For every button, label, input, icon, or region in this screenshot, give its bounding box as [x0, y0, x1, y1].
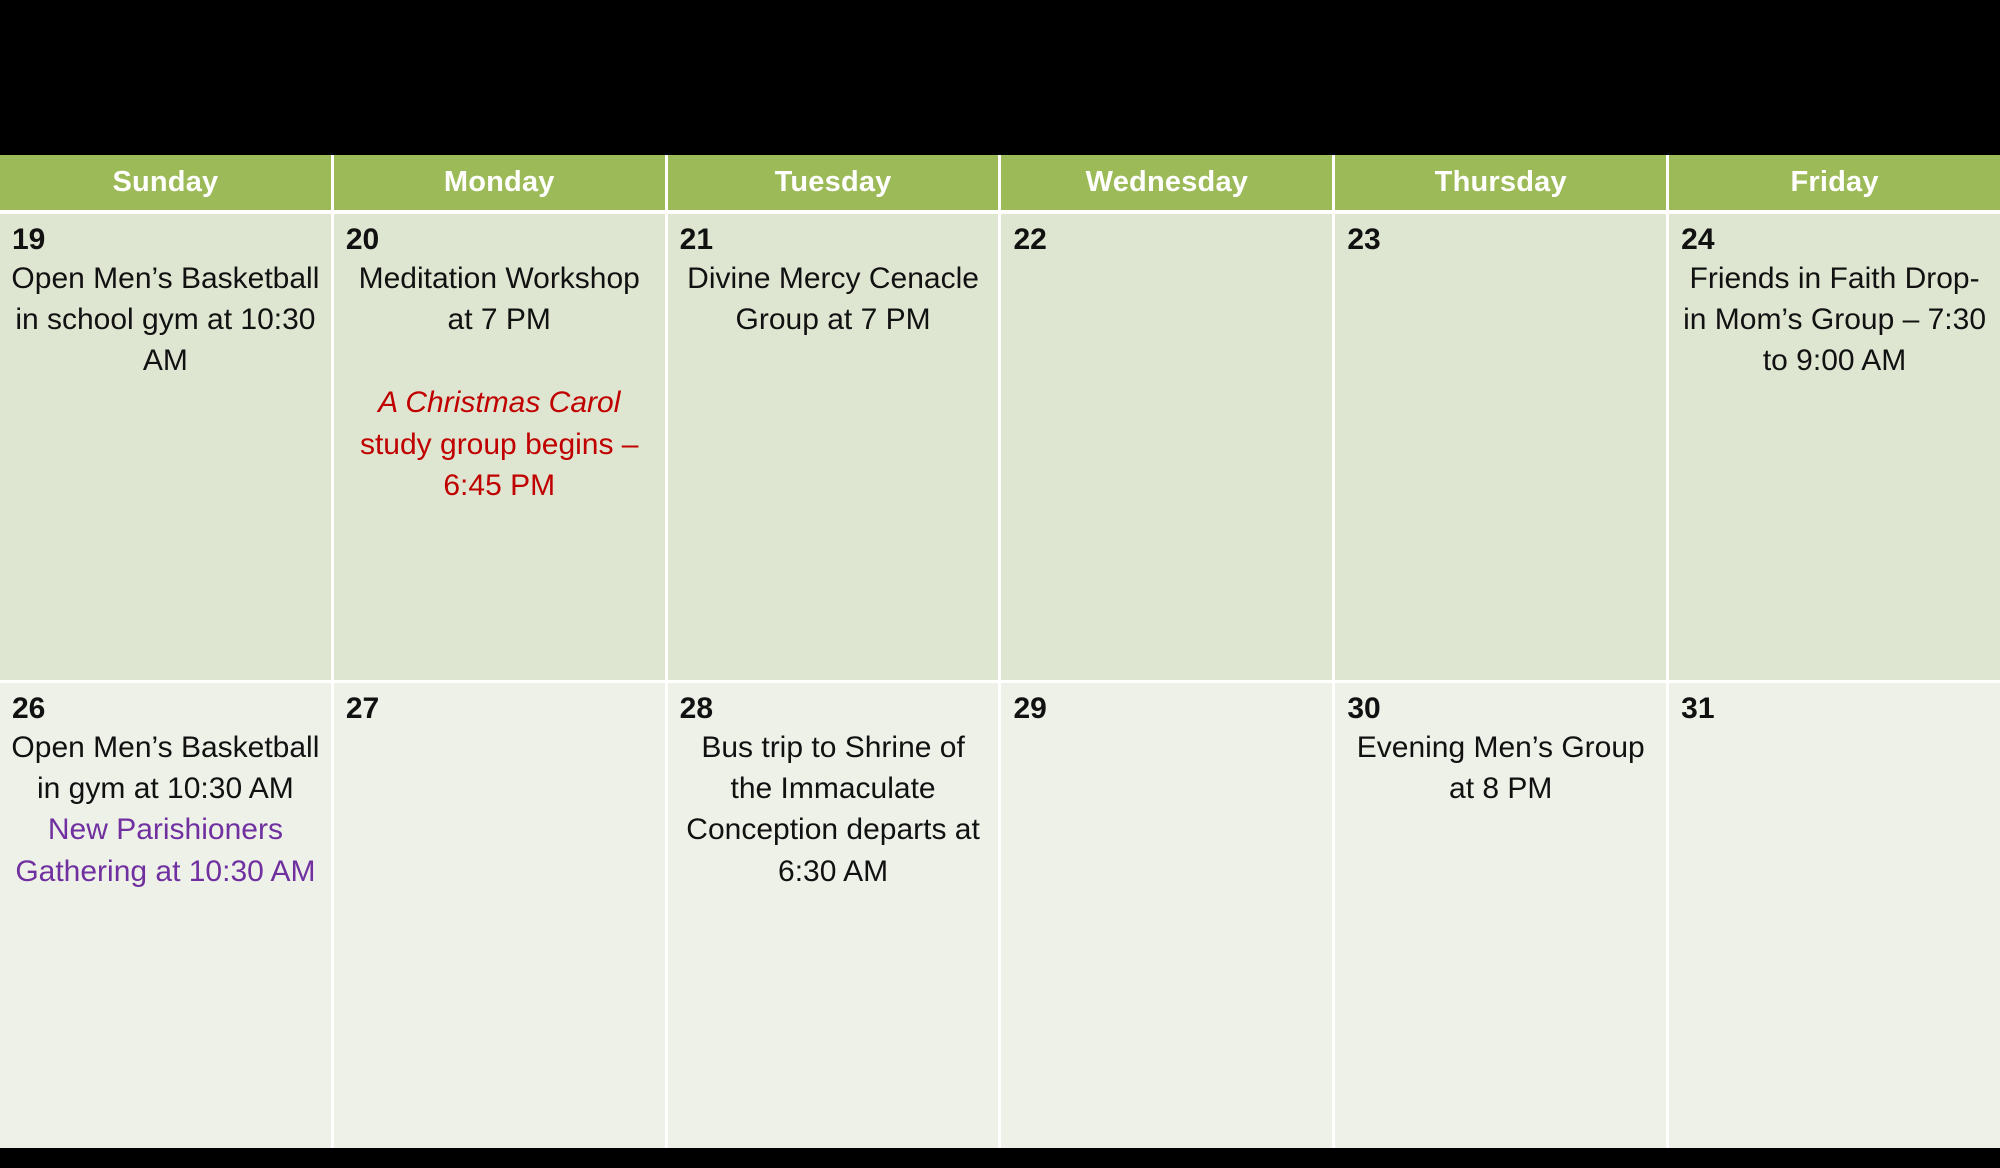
day-cell-30[interactable]: 30 Evening Men’s Group at 8 PM	[1335, 683, 1669, 1151]
column-header-thursday: Thursday	[1335, 155, 1669, 210]
day-events-26: Open Men’s Basketball in gym at 10:30 AM…	[8, 727, 323, 893]
column-header-tuesday: Tuesday	[668, 155, 1002, 210]
day-events-20: Meditation Workshop at 7 PM A Christmas …	[342, 258, 657, 507]
day-cell-26[interactable]: 26 Open Men’s Basketball in gym at 10:30…	[0, 683, 334, 1151]
letterbox-bottom	[0, 1148, 2000, 1168]
day-cell-27[interactable]: 27	[334, 683, 668, 1151]
event-item[interactable]: Friends in Faith Drop-in Mom’s Group – 7…	[1677, 258, 1992, 382]
day-number-21: 21	[680, 224, 991, 256]
day-number-31: 31	[1681, 693, 1992, 725]
day-events-21: Divine Mercy Cenacle Group at 7 PM	[676, 258, 991, 341]
column-header-wednesday: Wednesday	[1001, 155, 1335, 210]
day-number-23: 23	[1347, 224, 1658, 256]
event-detail: study group begins – 6:45 PM	[360, 428, 639, 502]
calendar-table: Sunday Monday Tuesday Wednesday Thursday…	[0, 155, 2000, 1148]
day-cell-19[interactable]: 19 Open Men’s Basketball in school gym a…	[0, 214, 334, 680]
day-cell-21[interactable]: 21 Divine Mercy Cenacle Group at 7 PM	[668, 214, 1002, 680]
event-item[interactable]: Bus trip to Shrine of the Immaculate Con…	[676, 727, 991, 893]
day-cell-31[interactable]: 31	[1669, 683, 2000, 1151]
day-number-26: 26	[12, 693, 323, 725]
event-item[interactable]: Divine Mercy Cenacle Group at 7 PM	[676, 258, 991, 341]
day-events-30: Evening Men’s Group at 8 PM	[1343, 727, 1658, 810]
day-number-30: 30	[1347, 693, 1658, 725]
day-number-24: 24	[1681, 224, 1992, 256]
column-header-sunday: Sunday	[0, 155, 334, 210]
column-header-monday: Monday	[334, 155, 668, 210]
calendar-week-row-2: 26 Open Men’s Basketball in gym at 10:30…	[0, 683, 2000, 1151]
day-cell-22[interactable]: 22	[1001, 214, 1335, 680]
event-title-italic: A Christmas Carol	[378, 386, 620, 419]
event-item-highlighted[interactable]: A Christmas Carol study group begins – 6…	[342, 382, 657, 506]
day-cell-23[interactable]: 23	[1335, 214, 1669, 680]
day-cell-24[interactable]: 24 Friends in Faith Drop-in Mom’s Group …	[1669, 214, 2000, 680]
day-events-28: Bus trip to Shrine of the Immaculate Con…	[676, 727, 991, 893]
day-number-20: 20	[346, 224, 657, 256]
day-events-19: Open Men’s Basketball in school gym at 1…	[8, 258, 323, 382]
day-cell-28[interactable]: 28 Bus trip to Shrine of the Immaculate …	[668, 683, 1002, 1151]
day-number-29: 29	[1013, 693, 1324, 725]
day-events-24: Friends in Faith Drop-in Mom’s Group – 7…	[1677, 258, 1992, 382]
day-cell-20[interactable]: 20 Meditation Workshop at 7 PM A Christm…	[334, 214, 668, 680]
event-item[interactable]: Open Men’s Basketball in school gym at 1…	[8, 258, 323, 382]
day-number-22: 22	[1013, 224, 1324, 256]
calendar-week-row-1: 19 Open Men’s Basketball in school gym a…	[0, 214, 2000, 680]
day-number-27: 27	[346, 693, 657, 725]
event-item[interactable]: Meditation Workshop at 7 PM	[342, 258, 657, 341]
event-item[interactable]: Open Men’s Basketball in gym at 10:30 AM	[8, 727, 323, 810]
day-number-19: 19	[12, 224, 323, 256]
event-item[interactable]: Evening Men’s Group at 8 PM	[1343, 727, 1658, 810]
day-cell-29[interactable]: 29	[1001, 683, 1335, 1151]
column-header-friday: Friday	[1669, 155, 2000, 210]
day-number-28: 28	[680, 693, 991, 725]
letterbox-top	[0, 0, 2000, 155]
calendar-header-row: Sunday Monday Tuesday Wednesday Thursday…	[0, 155, 2000, 210]
event-item-highlighted[interactable]: New Parishioners Gathering at 10:30 AM	[8, 809, 323, 892]
slide-canvas: Sunday Monday Tuesday Wednesday Thursday…	[0, 0, 2000, 1168]
